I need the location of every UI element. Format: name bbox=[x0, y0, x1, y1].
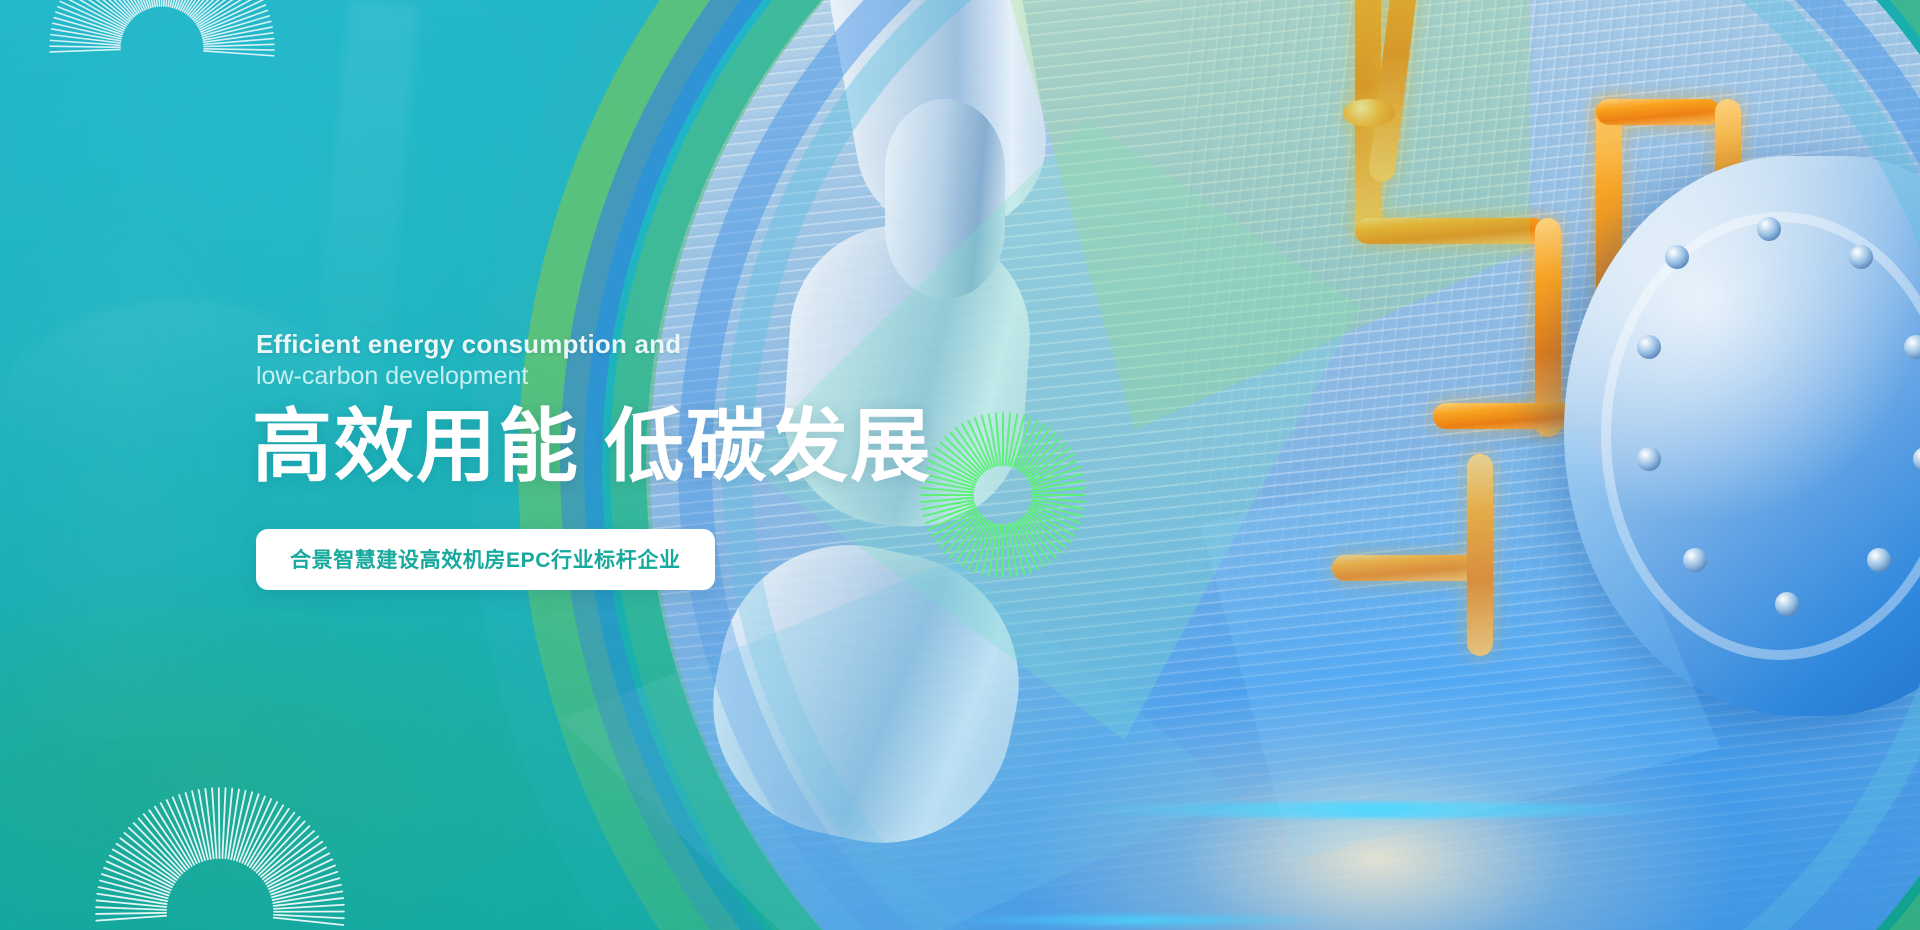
hero-banner: Efficient energy consumption and low-car… bbox=[0, 0, 1920, 930]
cta-pill-button[interactable]: 合景智慧建设高效机房EPC行业标杆企业 bbox=[256, 529, 715, 590]
sunburst-icon-bottom-left bbox=[80, 740, 380, 930]
sunburst-icon-top-left bbox=[0, 0, 340, 190]
hero-copy: Efficient energy consumption and low-car… bbox=[256, 330, 1016, 590]
eyebrow-line-1: Efficient energy consumption and bbox=[256, 330, 1016, 359]
eyebrow-line-2: low-carbon development bbox=[256, 361, 1016, 391]
page-title: 高效用能 低碳发展 bbox=[252, 407, 1016, 487]
